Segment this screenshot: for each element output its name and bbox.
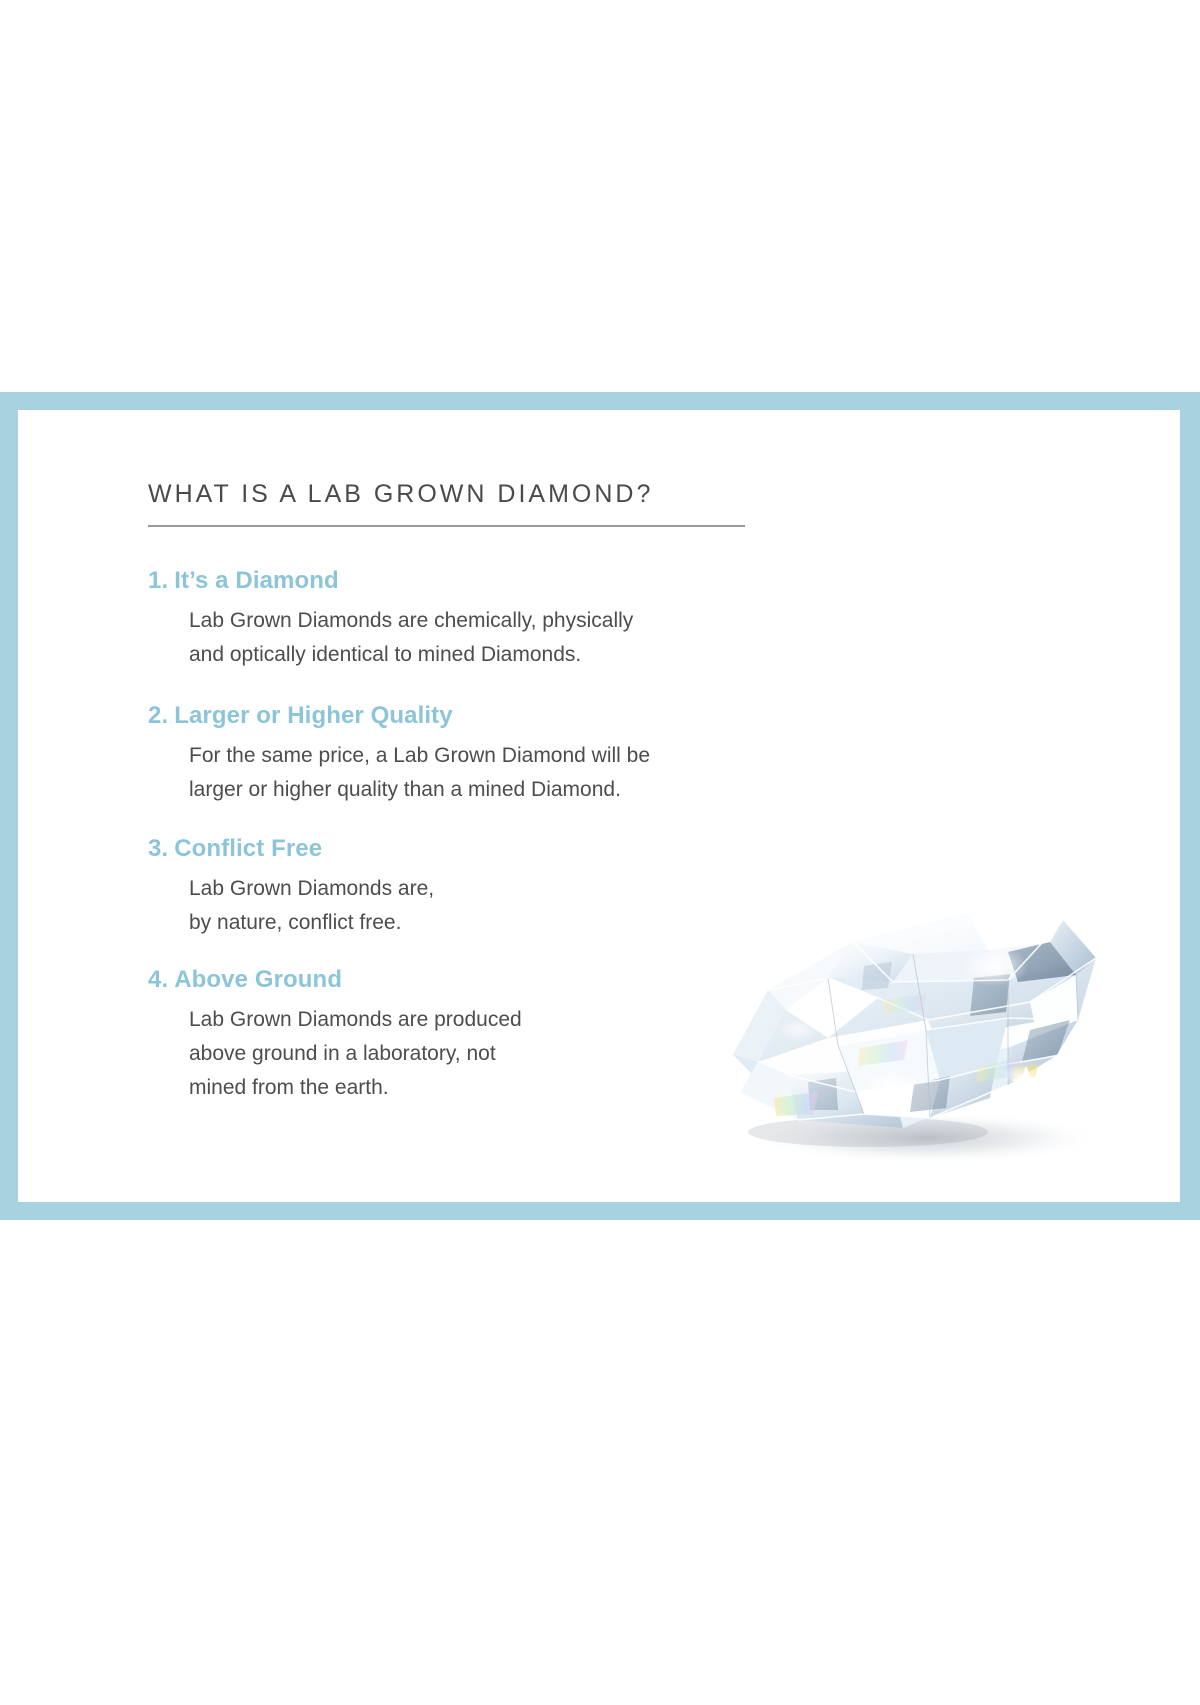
fact-body-1-line-2: and optically identical to mined Diamond… xyxy=(189,638,848,672)
fact-number-1: 1. xyxy=(148,567,168,594)
fact-title-1: It’s a Diamond xyxy=(174,567,339,594)
fact-number-3: 3. xyxy=(148,835,168,862)
card-inner-surface: WHAT IS A LAB GROWN DIAMOND? 1.It’s a Di… xyxy=(18,410,1180,1202)
fact-body-1-line-1: Lab Grown Diamonds are chemically, physi… xyxy=(189,604,848,638)
fact-body-3: Lab Grown Diamonds are, by nature, confl… xyxy=(148,872,848,940)
fact-body-3-line-2: by nature, conflict free. xyxy=(189,906,848,940)
page-title: WHAT IS A LAB GROWN DIAMOND? xyxy=(148,480,848,525)
fact-title-3: Conflict Free xyxy=(174,835,322,862)
fact-body-4-line-1: Lab Grown Diamonds are produced xyxy=(189,1003,848,1037)
fact-body-2: For the same price, a Lab Grown Diamond … xyxy=(148,739,848,807)
fact-list: 1.It’s a Diamond Lab Grown Diamonds are … xyxy=(148,567,848,1105)
diamond-shadow xyxy=(753,1112,1103,1164)
fact-heading-2: 2.Larger or Higher Quality xyxy=(148,702,848,730)
title-divider xyxy=(148,525,745,527)
fact-number-4: 4. xyxy=(148,966,168,993)
card-frame: WHAT IS A LAB GROWN DIAMOND? 1.It’s a Di… xyxy=(0,392,1200,1220)
fact-body-4: Lab Grown Diamonds are produced above gr… xyxy=(148,1003,848,1105)
fact-title-4: Above Ground xyxy=(174,966,342,993)
sparkle-icon xyxy=(1012,1066,1040,1094)
fact-body-2-line-1: For the same price, a Lab Grown Diamond … xyxy=(189,739,848,773)
fact-body-3-line-1: Lab Grown Diamonds are, xyxy=(189,872,848,906)
fact-heading-1: 1.It’s a Diamond xyxy=(148,567,848,595)
list-item: 4.Above Ground Lab Grown Diamonds are pr… xyxy=(148,966,848,1105)
fact-number-2: 2. xyxy=(148,702,168,729)
content-column: WHAT IS A LAB GROWN DIAMOND? 1.It’s a Di… xyxy=(148,480,848,1105)
list-item: 2.Larger or Higher Quality For the same … xyxy=(148,702,848,807)
fact-body-2-line-2: larger or higher quality than a mined Di… xyxy=(189,773,848,807)
fact-heading-3: 3.Conflict Free xyxy=(148,835,848,863)
fact-title-2: Larger or Higher Quality xyxy=(174,702,452,729)
fact-body-4-line-3: mined from the earth. xyxy=(189,1071,848,1105)
fact-body-4-line-2: above ground in a laboratory, not xyxy=(189,1037,848,1071)
fact-body-1: Lab Grown Diamonds are chemically, physi… xyxy=(148,604,848,672)
list-item: 3.Conflict Free Lab Grown Diamonds are, … xyxy=(148,835,848,940)
list-item: 1.It’s a Diamond Lab Grown Diamonds are … xyxy=(148,567,848,672)
fact-heading-4: 4.Above Ground xyxy=(148,966,848,994)
